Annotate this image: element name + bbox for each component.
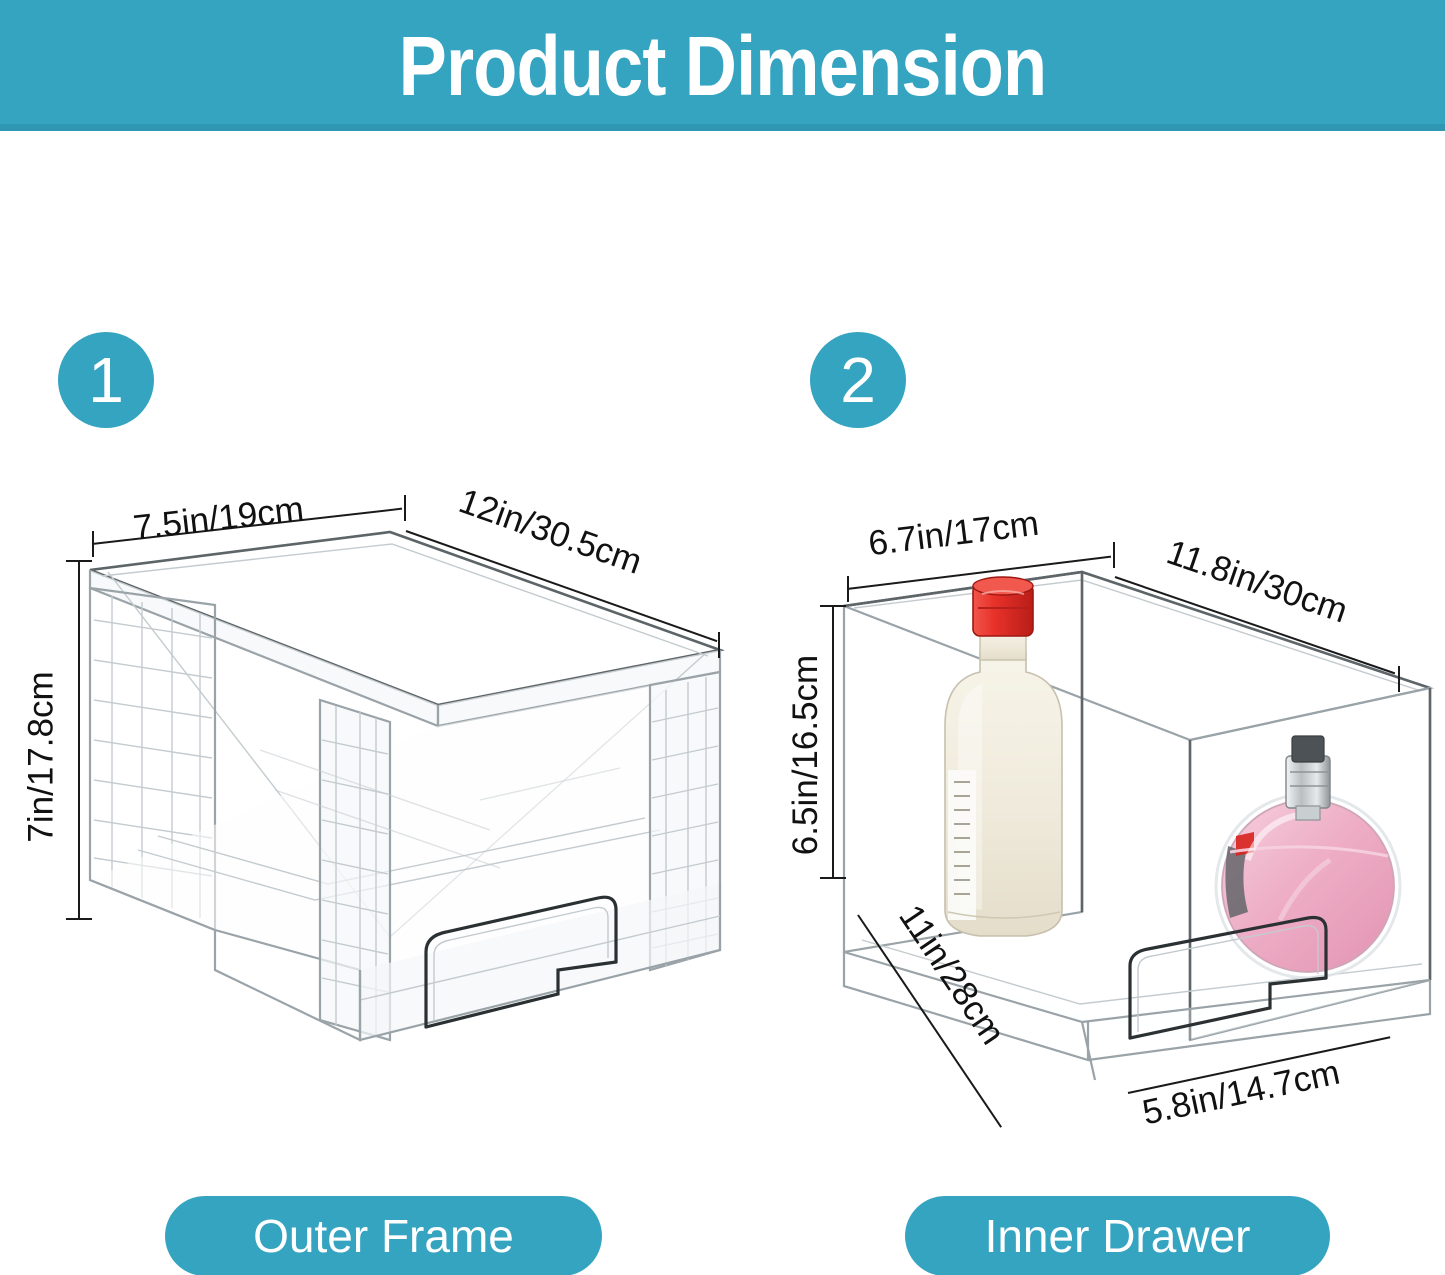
dim-label-height-2: 6.5in/16.5cm: [786, 655, 826, 855]
dim-tick-right-2: [1398, 666, 1400, 692]
dim-tick-top-h1: [66, 560, 92, 562]
step-badge-2: 2: [810, 332, 906, 428]
dim-label-width-top-2: 6.7in/17cm: [866, 504, 1041, 565]
dim-tick-mid-1: [404, 495, 406, 521]
dim-tick-left-2: [847, 576, 849, 602]
dim-tick-bot-h1: [66, 918, 92, 920]
dim-tick-left-1: [92, 531, 94, 557]
step-badge-1: 1: [58, 332, 154, 428]
lotion-bottle: [945, 577, 1062, 936]
dim-tick-top-h2: [820, 605, 846, 607]
perfume-bottle: [1216, 736, 1400, 978]
dim-line-height-1: [78, 560, 80, 918]
header-underline: [0, 124, 1445, 131]
outer-frame-svg: [60, 500, 760, 1140]
outer-frame-illustration: [60, 500, 760, 1140]
drawer-front-edge: [1082, 572, 1190, 1040]
product-dimension-infographic: Product Dimension 1 2: [0, 0, 1445, 1275]
caption-inner-drawer: Inner Drawer: [905, 1196, 1330, 1275]
header-banner: Product Dimension: [0, 0, 1445, 131]
page-title: Product Dimension: [101, 20, 1344, 112]
perfume-sprayer: [1286, 756, 1330, 808]
caption-outer-frame: Outer Frame: [165, 1196, 602, 1275]
dim-tick-right-1: [718, 632, 720, 658]
dim-line-height-2: [832, 605, 834, 877]
dim-tick-bot-h2: [820, 877, 846, 879]
dim-tick-mid-2: [1113, 542, 1115, 568]
dim-label-height-1: 7in/17.8cm: [22, 671, 62, 842]
